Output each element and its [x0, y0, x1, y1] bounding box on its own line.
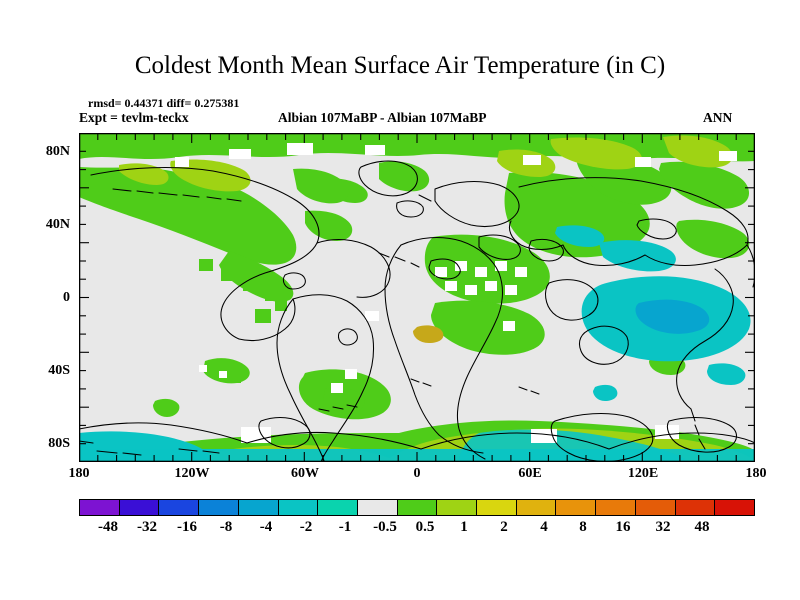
temperature-anomaly-map	[79, 133, 755, 462]
ytick-label-80s: 80S	[10, 436, 70, 452]
ytick-label-40n: 40N	[10, 217, 70, 233]
colorbar	[79, 499, 755, 516]
colorbar-segment-7	[357, 500, 397, 515]
colorbar-segment-1	[119, 500, 159, 515]
climate-anomaly-figure: Coldest Month Mean Surface Air Temperatu…	[0, 0, 800, 600]
colorbar-segment-11	[516, 500, 556, 515]
colorbar-segment-5	[278, 500, 318, 515]
colorbar-segment-9	[436, 500, 476, 515]
xtick-label-180w: 180	[39, 466, 119, 482]
xtick-label-60e: 60E	[490, 466, 570, 482]
colorbar-segment-12	[555, 500, 595, 515]
season-label: ANN	[703, 110, 732, 126]
case-description-label: Albian 107MaBP - Albian 107MaBP	[278, 110, 487, 126]
xtick-label-120e: 120E	[603, 466, 683, 482]
ytick-label-80n: 80N	[10, 144, 70, 160]
ytick-label-0: 0	[10, 290, 70, 306]
ytick-label-40s: 40S	[10, 363, 70, 379]
colorbar-segments	[79, 499, 755, 516]
experiment-label: Expt = tevlm-teckx	[79, 110, 189, 126]
colorbar-segment-15	[675, 500, 715, 515]
map-plot-area	[79, 133, 755, 462]
page-title: Coldest Month Mean Surface Air Temperatu…	[0, 52, 800, 80]
rmsd-statistics-label: rmsd= 0.44371 diff= 0.275381	[88, 96, 239, 111]
colorbar-segment-14	[635, 500, 675, 515]
xtick-label-180e: 180	[716, 466, 796, 482]
xtick-label-0: 0	[377, 466, 457, 482]
colorbar-segment-4	[238, 500, 278, 515]
colorbar-segment-3	[198, 500, 238, 515]
colorbar-segment-6	[317, 500, 357, 515]
colorbar-label-48: 48	[672, 519, 732, 536]
colorbar-segment-0	[80, 500, 119, 515]
colorbar-segment-16	[714, 500, 754, 515]
colorbar-segment-8	[397, 500, 437, 515]
colorbar-segment-2	[158, 500, 198, 515]
xtick-label-60w: 60W	[265, 466, 345, 482]
colorbar-segment-10	[476, 500, 516, 515]
xtick-label-120w: 120W	[152, 466, 232, 482]
colorbar-segment-13	[595, 500, 635, 515]
